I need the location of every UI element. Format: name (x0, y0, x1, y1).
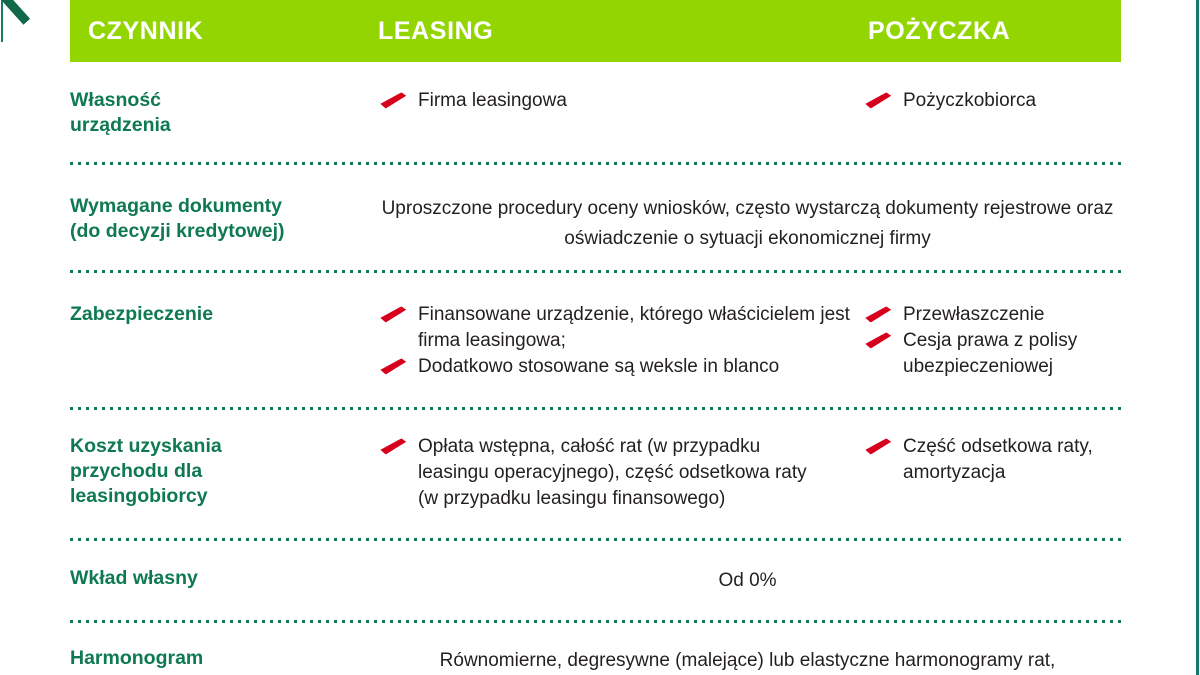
check-icon (865, 335, 893, 351)
cell-loan: Przewłaszczenie Cesja prawa z polisy ube… (865, 302, 1125, 380)
row-separator (70, 538, 1121, 541)
row-label: Własność urządzenia (70, 88, 360, 138)
row-label: Wkład własny (70, 566, 360, 591)
list-item: Pożyczkobiorca (865, 88, 1125, 114)
cell-loan: Część odsetkowa raty, amortyzacja (865, 434, 1125, 486)
cell-loan: Pożyczkobiorca (865, 88, 1125, 114)
check-icon (865, 441, 893, 457)
check-icon (380, 95, 408, 111)
row-separator (70, 407, 1121, 410)
cell-span: Od 0% (370, 566, 1125, 596)
list-item: Część odsetkowa raty, amortyzacja (865, 434, 1125, 486)
table-header-bar: CZYNNIK LEASING POŻYCZKA (70, 0, 1121, 62)
check-icon (380, 441, 408, 457)
header-column-loan: POŻYCZKA (868, 0, 1010, 62)
list-item: Dodatkowo stosowane są weksle in blanco (380, 354, 850, 380)
list-item: Firma leasingowa (380, 88, 850, 114)
check-icon (380, 309, 408, 325)
cell-span: Uproszczone procedury oceny wniosków, cz… (370, 194, 1125, 254)
list-item: Opłata wstępna, całość rat (w przypadku … (380, 434, 830, 512)
check-icon (865, 309, 893, 325)
comparison-table-page: CZYNNIK LEASING POŻYCZKA Własność urządz… (0, 0, 1200, 675)
cell-leasing: Opłata wstępna, całość rat (w przypadku … (380, 434, 830, 512)
header-column-leasing: LEASING (378, 0, 493, 62)
row-separator (70, 270, 1121, 273)
list-item: Cesja prawa z polisy ubezpieczeniowej (865, 328, 1125, 380)
check-icon (380, 361, 408, 377)
header-column-factor: CZYNNIK (88, 0, 203, 62)
list-item: Finansowane urządzenie, którego właścici… (380, 302, 850, 354)
right-edge-accent-line (1196, 0, 1199, 675)
list-item: Przewłaszczenie (865, 302, 1125, 328)
check-icon (865, 95, 893, 111)
row-separator (70, 162, 1121, 165)
cell-leasing: Finansowane urządzenie, którego właścici… (380, 302, 850, 380)
cell-span: Równomierne, degresywne (malejące) lub e… (370, 646, 1125, 675)
row-label: Zabezpieczenie (70, 302, 360, 327)
row-label: Koszt uzyskania przychodu dla leasingobi… (70, 434, 360, 509)
cell-leasing: Firma leasingowa (380, 88, 850, 114)
row-separator (70, 620, 1121, 623)
row-label: Wymagane dokumenty (do decyzji kredytowe… (70, 194, 370, 244)
row-label: Harmonogram (70, 646, 360, 671)
corner-chevron-icon (0, 0, 46, 32)
